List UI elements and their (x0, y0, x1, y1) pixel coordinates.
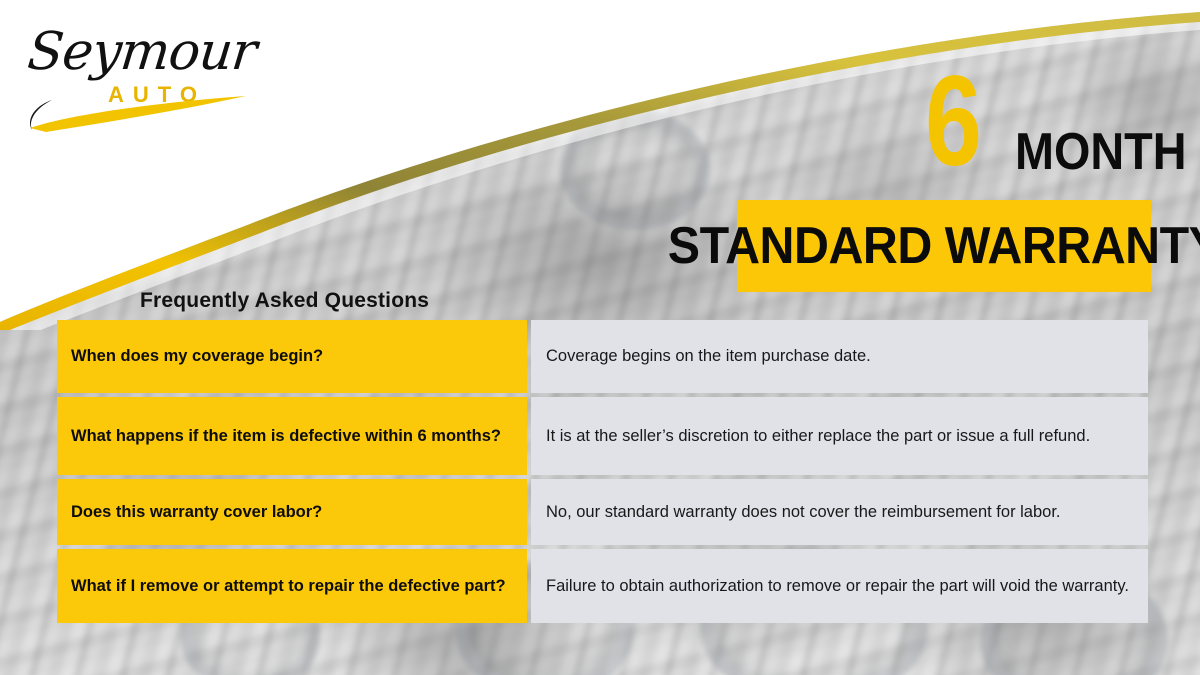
logo-swoosh-icon (22, 94, 272, 134)
faq-answer-cell: It is at the seller’s discretion to eith… (531, 397, 1148, 475)
faq-answer-text: It is at the seller’s discretion to eith… (546, 425, 1134, 448)
table-row: What if I remove or attempt to repair th… (57, 549, 1148, 623)
standard-warranty-banner: STANDARD WARRANTY (737, 200, 1151, 292)
faq-question-cell: What if I remove or attempt to repair th… (57, 549, 527, 623)
warranty-term-headline: 6 MONTH (905, 72, 1165, 192)
faq-answer-cell: Coverage begins on the item purchase dat… (531, 320, 1148, 393)
warranty-term-number: 6 (925, 58, 980, 186)
logo-wordmark-script: Seymour (25, 22, 259, 82)
faq-question-text: Does this warranty cover labor? (71, 501, 322, 523)
faq-answer-text: Coverage begins on the item purchase dat… (546, 345, 1134, 368)
table-row: When does my coverage begin? Coverage be… (57, 320, 1148, 393)
faq-answer-text: Failure to obtain authorization to remov… (546, 575, 1134, 598)
faq-question-cell: Does this warranty cover labor? (57, 479, 527, 545)
seymour-auto-logo: Seymour AUTO (22, 20, 272, 130)
warranty-term-unit: MONTH (1015, 126, 1187, 178)
faq-answer-cell: Failure to obtain authorization to remov… (531, 549, 1148, 623)
engine-pulley-shape (560, 110, 710, 230)
faq-question-text: When does my coverage begin? (71, 345, 323, 367)
table-row: What happens if the item is defective wi… (57, 397, 1148, 475)
faq-question-text: What if I remove or attempt to repair th… (71, 575, 506, 597)
faq-answer-text: No, our standard warranty does not cover… (546, 501, 1134, 524)
warranty-slide: Seymour AUTO 6 MONTH STANDARD WARRANTY F… (0, 0, 1200, 675)
faq-question-cell: When does my coverage begin? (57, 320, 527, 393)
faq-question-text: What happens if the item is defective wi… (71, 425, 501, 447)
faq-table: When does my coverage begin? Coverage be… (57, 320, 1148, 623)
table-row: Does this warranty cover labor? No, our … (57, 479, 1148, 545)
faq-question-cell: What happens if the item is defective wi… (57, 397, 527, 475)
standard-warranty-banner-text: STANDARD WARRANTY (668, 220, 1200, 272)
faq-answer-cell: No, our standard warranty does not cover… (531, 479, 1148, 545)
faq-section-heading: Frequently Asked Questions (140, 289, 429, 313)
